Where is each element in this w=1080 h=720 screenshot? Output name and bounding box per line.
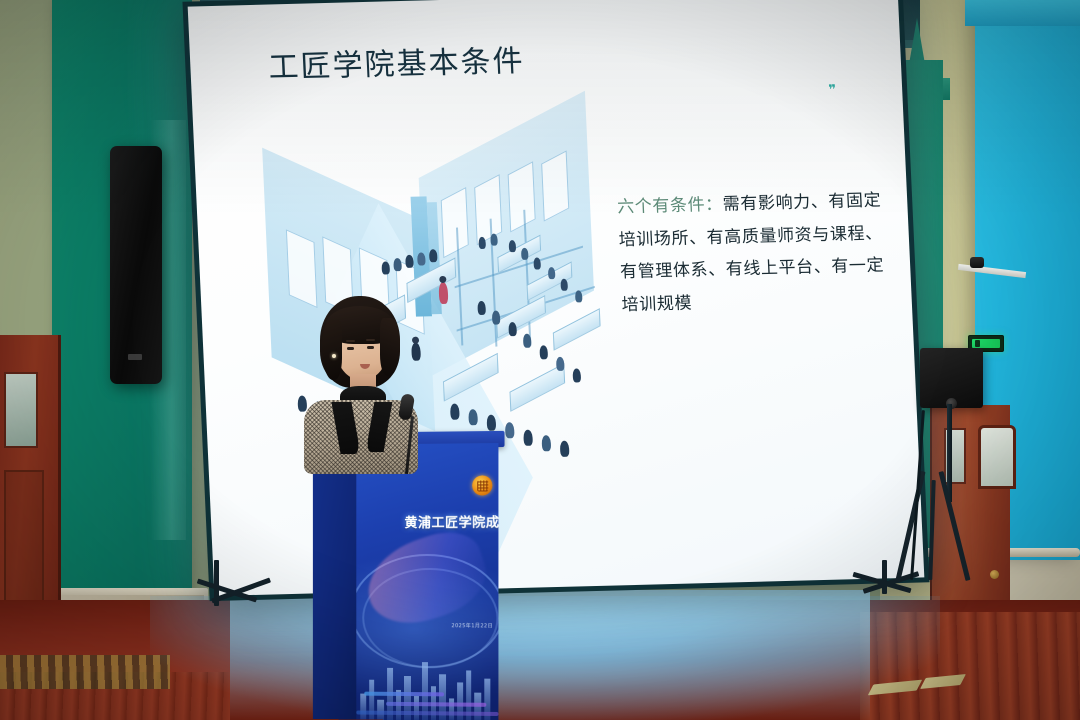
presenter [298, 296, 423, 466]
lectern-light-streak [364, 692, 444, 697]
iso-desk [553, 308, 601, 351]
presenter-hair-side [380, 318, 400, 376]
iso-person [575, 290, 583, 302]
iso-person [523, 334, 532, 348]
iso-person [539, 345, 548, 359]
skyline-bar [414, 696, 419, 720]
right-door-window [978, 425, 1016, 489]
skyline-bar [360, 694, 366, 720]
floor-mat-stripes [0, 655, 170, 689]
lectern-light-streak [386, 702, 486, 707]
presenter-hair-side [322, 320, 342, 380]
union-emblem-icon [472, 475, 492, 495]
lectern: 黄浦工匠学院成立仪式 2025年1月22日 [313, 431, 499, 720]
iso-person [548, 267, 556, 279]
iso-person [487, 415, 497, 431]
presenter-eye [367, 346, 374, 349]
iso-person [492, 310, 501, 324]
lectern-side-panel [313, 444, 358, 719]
iso-person [393, 258, 402, 271]
presenter-eye [347, 347, 354, 350]
photo-scene: 工匠学院基本条件 ❞ [0, 0, 1080, 720]
iso-person [505, 422, 515, 438]
speaker-stand-pole [947, 404, 952, 502]
quote-mark-icon: ❞ [828, 82, 838, 98]
iso-person [509, 240, 517, 252]
lectern-front-panel: 黄浦工匠学院成立仪式 2025年1月22日 [356, 443, 498, 720]
iso-person [521, 248, 529, 260]
iso-person [523, 430, 533, 446]
iso-person [405, 255, 414, 268]
iso-person [560, 441, 570, 457]
iso-person [541, 435, 551, 451]
iso-person [560, 279, 568, 291]
lectern-skyline-graphic [356, 628, 498, 720]
left-door-window [4, 372, 38, 448]
slide-body-lead: 六个有条件： [617, 195, 723, 218]
lectern-title: 黄浦工匠学院成立仪式 [402, 511, 498, 531]
iso-person [556, 357, 565, 371]
wall-speaker-icon [110, 146, 162, 384]
iso-desk [509, 363, 565, 412]
screen-stand-leg [882, 560, 887, 594]
iso-person [468, 409, 478, 425]
cyan-pillar-cap [965, 0, 1080, 26]
iso-person [490, 234, 498, 246]
slide-title: 工匠学院基本条件 [267, 36, 525, 87]
iso-person [429, 249, 438, 262]
iso-person [478, 237, 486, 249]
iso-person [381, 261, 390, 274]
exit-sign-glyph [972, 339, 1000, 348]
iso-person [417, 252, 426, 265]
speaker-logo [128, 354, 142, 360]
screen-stand-leg [214, 560, 219, 606]
iso-person [572, 368, 581, 382]
iso-person [450, 404, 460, 420]
presenter-eyebrow [346, 340, 355, 342]
iso-person [508, 322, 517, 336]
security-camera-icon [970, 257, 984, 268]
screen-frame: 工匠学院基本条件 ❞ [182, 0, 929, 601]
iso-person [477, 301, 486, 315]
presenter-earring [332, 354, 336, 358]
presenter-eyebrow [366, 339, 375, 341]
projection-screen[interactable]: 工匠学院基本条件 ❞ [182, 0, 929, 601]
door-handle[interactable] [990, 570, 999, 579]
iso-person [533, 257, 541, 269]
slide-body-text: 六个有条件：需有影响力、有固定培训场所、有高质量师资与课程、有管理体系、有线上平… [616, 184, 892, 321]
lectern-date: 2025年1月22日 [402, 622, 498, 630]
